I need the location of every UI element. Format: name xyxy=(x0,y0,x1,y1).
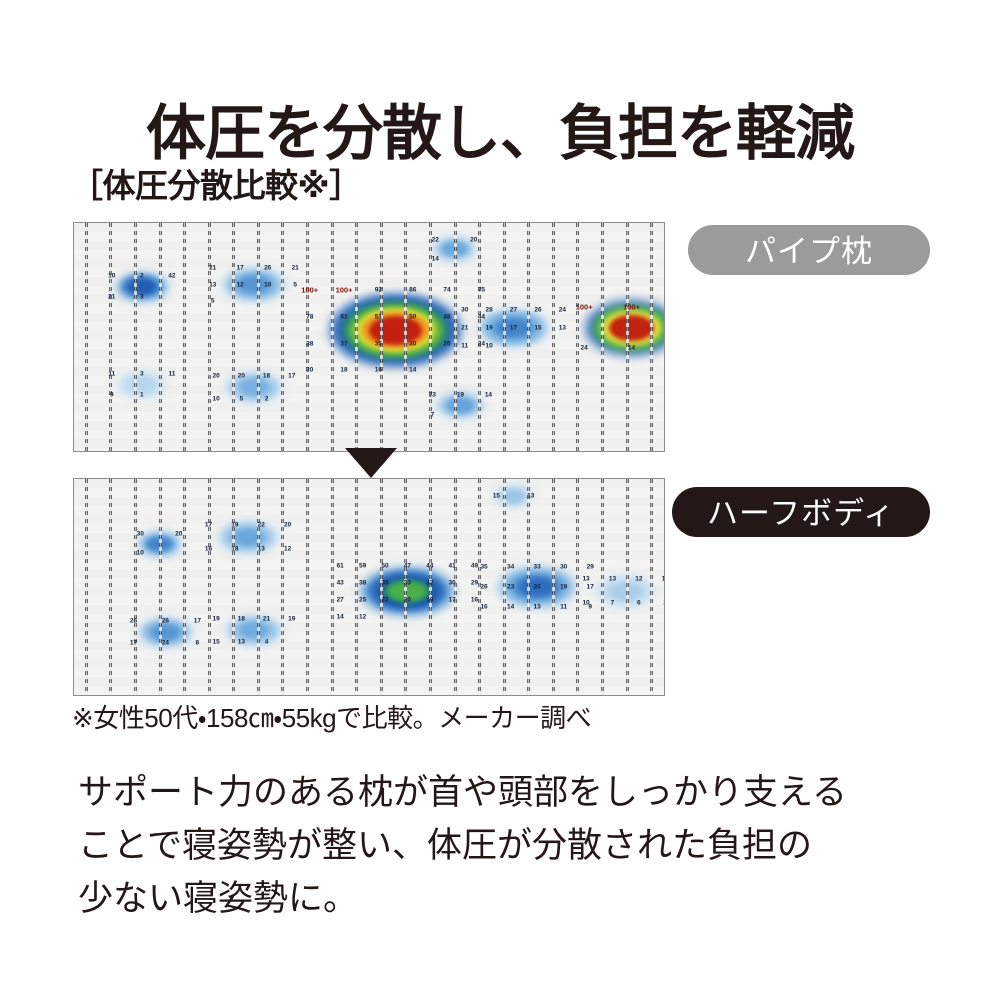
sensor-column-line xyxy=(650,479,653,695)
sensor-value: 23 xyxy=(507,584,514,591)
pressure-map-pipe: 1024221311311912117262113121055202018171… xyxy=(73,222,665,452)
sensor-value: 3 xyxy=(140,294,144,301)
sensor-column-line xyxy=(183,223,186,451)
sensor-value: 13 xyxy=(559,324,566,331)
sensor-value: 13 xyxy=(527,493,534,500)
sensor-value: 10 xyxy=(486,343,493,350)
sensor-column-line xyxy=(355,223,358,451)
sensor-value: 20 xyxy=(238,372,245,379)
sensor-value: 17 xyxy=(510,324,517,331)
sensor-column-line xyxy=(331,223,334,451)
sensor-column-line xyxy=(552,479,555,695)
sensor-column-line xyxy=(134,223,137,451)
sensor-value: 21 xyxy=(263,615,270,622)
sensor-value: 24 xyxy=(162,640,169,647)
sensor-value: 75 xyxy=(478,287,485,294)
sensor-value: 11 xyxy=(560,603,567,610)
sensor-column-line xyxy=(232,479,235,695)
page-title: 体圧を分散し、負担を軽減 xyxy=(0,98,1000,170)
sensor-value: 22 xyxy=(432,236,439,243)
sensor-value: 24 xyxy=(478,340,485,347)
sensor-column-line xyxy=(85,223,88,451)
sensor-value: 7 xyxy=(611,600,615,607)
sensor-column-line xyxy=(478,223,481,451)
sensor-value: 10 xyxy=(137,550,144,557)
sensor-value: 33 xyxy=(534,564,541,571)
sensor-value: 100+ xyxy=(301,287,318,294)
pressure-contour xyxy=(503,490,525,503)
sensor-value: 38 xyxy=(359,579,366,586)
sensor-value: 10 xyxy=(582,600,589,607)
sensor-value: 15 xyxy=(534,324,541,331)
sensor-value: 86 xyxy=(409,287,416,294)
sensor-value: 27 xyxy=(510,306,517,313)
sensor-value: 15 xyxy=(213,638,220,645)
sensor-column-line xyxy=(306,479,309,695)
sensor-value: 14 xyxy=(507,603,514,610)
sensor-column-line xyxy=(576,479,579,695)
sensor-value: 74 xyxy=(443,287,450,294)
sensor-value: 25 xyxy=(359,596,366,603)
sensor-column-line xyxy=(503,223,506,451)
sensor-value: 9 xyxy=(110,392,114,399)
sensor-value: 30 xyxy=(409,340,416,347)
sensor-value: 10 xyxy=(108,273,115,280)
sensor-column-line xyxy=(527,223,530,451)
sensor-value: 16 xyxy=(375,367,382,374)
sensor-value: 17 xyxy=(237,264,244,271)
sensor-value: 17 xyxy=(288,372,295,379)
sensor-column-line xyxy=(85,479,88,695)
sensor-column-line xyxy=(208,223,211,451)
sensor-value: 5 xyxy=(293,281,297,288)
sensor-value: 22 xyxy=(381,596,388,603)
sensor-value: 38 xyxy=(306,340,313,347)
sensor-value: 13 xyxy=(238,638,245,645)
sensor-column-line xyxy=(576,223,579,451)
sensor-value: 35 xyxy=(381,579,388,586)
sensor-value: 78 xyxy=(306,313,313,320)
sensor-value: 19 xyxy=(288,615,295,622)
sensor-value: 26 xyxy=(534,306,541,313)
sensor-value: 92 xyxy=(375,287,382,294)
sensor-value: 26 xyxy=(443,340,450,347)
sensor-value: 17 xyxy=(205,522,212,529)
sensor-value: 29 xyxy=(587,564,594,571)
section-heading: ［体圧分散比較※］ xyxy=(70,166,362,206)
sensor-value: 61 xyxy=(337,562,344,569)
sensor-value: 1 xyxy=(140,392,144,399)
sensor-column-line xyxy=(134,479,137,695)
body-line-3: 少ない寝姿勢に。 xyxy=(78,872,958,925)
sensor-value: 44 xyxy=(478,313,485,320)
badge-pipe-pillow: パイプ枕 xyxy=(688,225,930,275)
sensor-value: 14 xyxy=(628,345,635,352)
pressure-contour xyxy=(447,398,474,413)
sensor-column-line xyxy=(380,223,383,451)
sensor-value: 5 xyxy=(211,298,215,305)
sensor-value: 24 xyxy=(559,306,566,313)
sensor-value: 43 xyxy=(337,579,344,586)
sensor-value: 59 xyxy=(359,562,366,569)
sensor-value: 19 xyxy=(231,522,238,529)
sensor-value: 19 xyxy=(426,596,433,603)
sensor-value: 20 xyxy=(284,522,291,529)
sensor-column-line xyxy=(355,479,358,695)
sensor-value: 12 xyxy=(284,546,291,553)
sensor-column-line xyxy=(601,223,604,451)
sensor-value: 18 xyxy=(263,372,270,379)
sensor-value: 13 xyxy=(534,603,541,610)
sensor-column-line xyxy=(454,223,457,451)
sensor-value: 49 xyxy=(471,562,478,569)
sensor-value: 32 xyxy=(426,579,433,586)
sensor-value: 16 xyxy=(480,603,487,610)
sensor-value: 35 xyxy=(375,340,382,347)
sensor-value: 13 xyxy=(258,546,265,553)
sensor-value: 20 xyxy=(213,372,220,379)
sensor-value: 19 xyxy=(560,584,567,591)
sensor-value: 26 xyxy=(480,584,487,591)
body-line-1: サポート力のある枕が首や頭部をしっかり支える xyxy=(78,766,958,819)
sensor-column-line xyxy=(159,223,162,451)
sensor-column-line xyxy=(404,479,407,695)
sensor-value: 28 xyxy=(486,306,493,313)
sensor-value: 33 xyxy=(404,579,411,586)
sensor-value: 17 xyxy=(448,596,455,603)
sensor-value: 51 xyxy=(375,313,382,320)
sensor-column-line xyxy=(257,479,260,695)
sensor-value: 19 xyxy=(486,324,493,331)
pressure-contour xyxy=(240,379,269,394)
sensor-value: 11 xyxy=(168,371,175,378)
sensor-value: 50 xyxy=(409,313,416,320)
sensor-value: 34 xyxy=(507,564,514,571)
sensor-value: 50 xyxy=(381,562,388,569)
sensor-value: 22 xyxy=(258,522,265,529)
pressure-contour xyxy=(129,378,155,392)
sensor-value: 10 xyxy=(213,395,220,402)
sensor-value: 16 xyxy=(205,546,212,553)
body-line-2: ことで寝姿勢が整い、体圧が分散された負担の xyxy=(78,819,958,872)
sensor-value: 11 xyxy=(662,576,664,583)
sensor-column-line xyxy=(626,223,629,451)
sensor-value: 21 xyxy=(108,294,115,301)
sensor-value: 21 xyxy=(292,264,299,271)
sensor-value: 17 xyxy=(194,618,201,625)
sensor-value: 37 xyxy=(340,340,347,347)
sensor-value: 6 xyxy=(637,600,641,607)
sensor-value: 19 xyxy=(213,615,220,622)
sensor-column-line xyxy=(159,479,162,695)
sensor-column-line xyxy=(429,479,432,695)
body-copy: サポート力のある枕が首や頭部をしっかり支える ことで寝姿勢が整い、体圧が分散され… xyxy=(78,766,958,925)
sensor-column-line xyxy=(306,223,309,451)
pressure-contour xyxy=(240,622,269,637)
pressure-map-half-canvas: 3020102626171724817192220161813121918211… xyxy=(74,479,664,695)
sensor-column-line xyxy=(331,479,334,695)
footnote: ※女性50代・158㎝・55kgで比較。メーカー調べ xyxy=(72,702,591,734)
pressure-map-pipe-canvas: 1024221311311912117262113121055202018171… xyxy=(74,223,664,451)
sensor-value: 30 xyxy=(137,531,144,538)
sensor-column-line xyxy=(232,223,235,451)
sensor-column-line xyxy=(380,479,383,695)
sensor-value: 12 xyxy=(237,281,244,288)
sensor-value: 14 xyxy=(485,392,492,399)
sensor-column-line xyxy=(454,479,457,695)
sensor-value: 17 xyxy=(130,640,137,647)
sensor-column-line xyxy=(109,479,112,695)
sensor-value: 30 xyxy=(560,564,567,571)
sensor-value: 41 xyxy=(448,562,455,569)
sensor-value: 20 xyxy=(470,236,477,243)
sensor-column-line xyxy=(208,479,211,695)
sensor-value: 24 xyxy=(581,345,588,352)
sensor-value: 11 xyxy=(108,371,115,378)
sensor-value: 20 xyxy=(306,367,313,374)
sensor-value: 10 xyxy=(264,281,271,288)
pressure-map-half: 3020102626171724817192220161813121918211… xyxy=(73,478,665,696)
sensor-value: 26 xyxy=(264,264,271,271)
sensor-value: 13 xyxy=(209,281,216,288)
sensor-column-line xyxy=(552,223,555,451)
sensor-value: 44 xyxy=(426,562,433,569)
pressure-contour xyxy=(609,315,654,341)
sensor-value: 21 xyxy=(209,264,216,271)
sensor-value: 7 xyxy=(431,412,435,419)
sensor-value: 12 xyxy=(359,613,366,620)
sensor-value: 19 xyxy=(457,392,464,399)
sensor-value: 26 xyxy=(162,618,169,625)
sensor-value: 3 xyxy=(140,371,144,378)
sensor-column-line xyxy=(109,223,112,451)
sensor-value: 20 xyxy=(534,584,541,591)
sensor-column-line xyxy=(650,223,653,451)
sensor-column-line xyxy=(257,223,260,451)
sensor-value: 5 xyxy=(240,395,244,402)
sensor-value: 18 xyxy=(231,546,238,553)
sensor-value: 100+ xyxy=(336,287,353,294)
sensor-value: 100+ xyxy=(623,304,640,311)
sensor-value: 18 xyxy=(340,367,347,374)
sensor-value: 30 xyxy=(461,306,468,313)
sensor-value: 14 xyxy=(409,367,416,374)
sensor-column-line xyxy=(281,223,284,451)
sensor-value: 4 xyxy=(265,638,269,645)
sensor-value: 30 xyxy=(448,579,455,586)
poster-root: 体圧を分散し、負担を軽減 ［体圧分散比較※］ 10242213113119121… xyxy=(0,0,1000,1000)
sensor-value: 20 xyxy=(175,531,182,538)
sensor-column-line xyxy=(281,479,284,695)
downward-triangle-icon xyxy=(345,448,397,478)
sensor-value: 35 xyxy=(480,564,487,571)
sensor-value: 13 xyxy=(609,576,616,583)
sensor-value: 12 xyxy=(635,576,642,583)
sensor-value: 11 xyxy=(461,343,468,350)
sensor-column-line xyxy=(183,479,186,695)
sensor-value: 2 xyxy=(140,273,144,280)
sensor-value: 14 xyxy=(432,255,439,262)
sensor-value: 27 xyxy=(337,596,344,603)
sensor-column-line xyxy=(626,479,629,695)
sensor-value: 23 xyxy=(429,392,436,399)
sensor-value: 17 xyxy=(587,584,594,591)
badge-half-body: ハーフボディ xyxy=(672,487,930,537)
sensor-value: 26 xyxy=(130,618,137,625)
sensor-value: 21 xyxy=(461,324,468,331)
sensor-value: 61 xyxy=(340,313,347,320)
sensor-value: 8 xyxy=(196,640,200,647)
sensor-value: 29 xyxy=(471,579,478,586)
sensor-value: 15 xyxy=(493,493,500,500)
sensor-value: 14 xyxy=(337,613,344,620)
sensor-value: 13 xyxy=(582,576,589,583)
sensor-value: 2 xyxy=(663,600,664,607)
pressure-contour xyxy=(129,280,155,294)
sensor-value: 18 xyxy=(238,615,245,622)
sensor-column-line xyxy=(527,479,530,695)
sensor-column-line xyxy=(503,479,506,695)
pressure-contour xyxy=(152,625,179,640)
sensor-column-line xyxy=(404,223,407,451)
sensor-value: 100+ xyxy=(576,304,593,311)
sensor-value: 47 xyxy=(404,562,411,569)
sensor-column-line xyxy=(601,479,604,695)
sensor-value: 2 xyxy=(265,395,269,402)
sensor-value: 16 xyxy=(471,596,478,603)
sensor-value: 20 xyxy=(404,596,411,603)
sensor-value: 42 xyxy=(168,273,175,280)
sensor-value: 48 xyxy=(443,313,450,320)
